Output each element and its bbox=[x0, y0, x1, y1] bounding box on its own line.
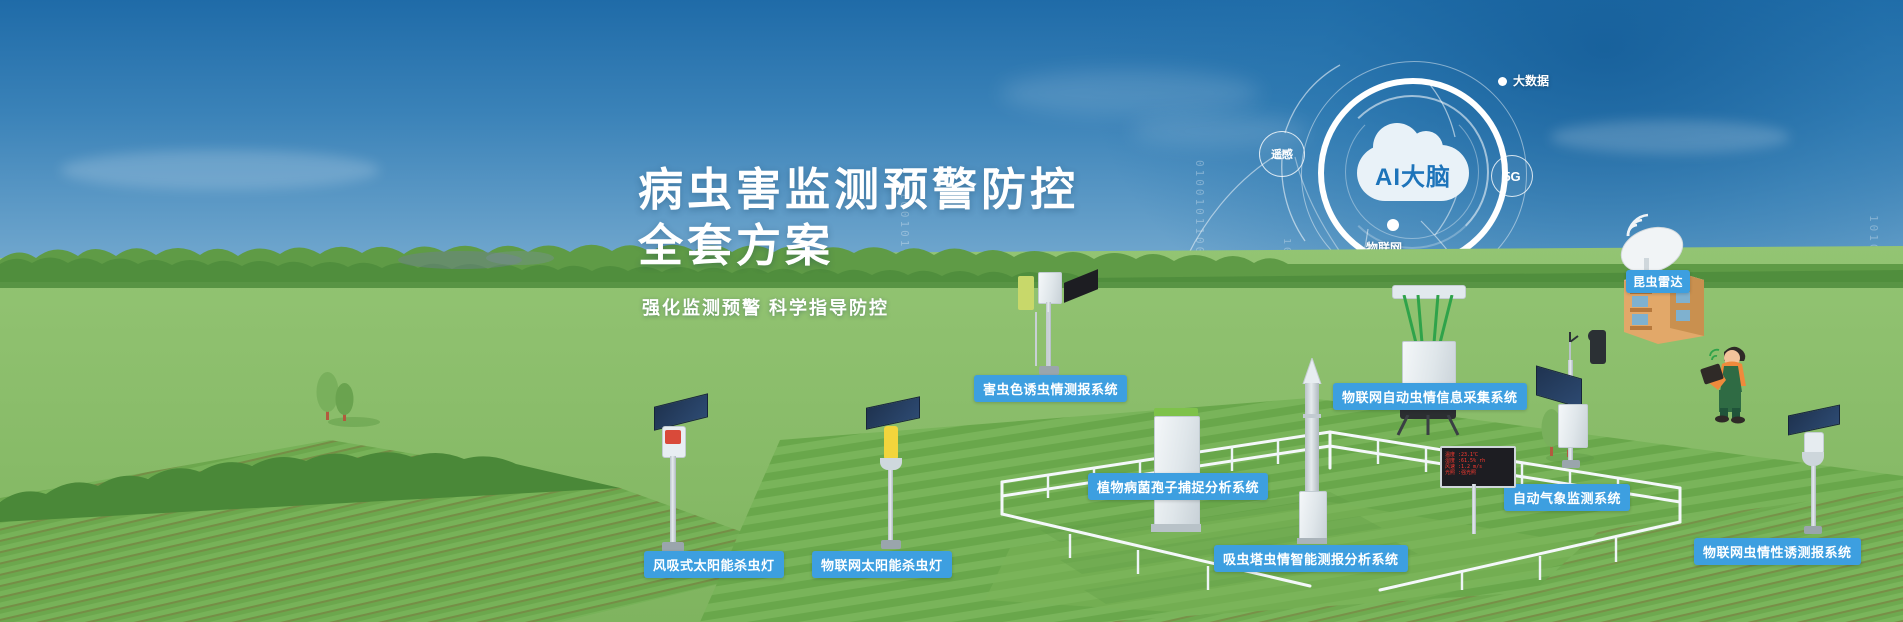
node-5g[interactable]: 5G bbox=[1491, 155, 1533, 197]
pheromone-funnel bbox=[1802, 452, 1824, 466]
node-big-data-label: 大数据 bbox=[1513, 72, 1549, 89]
cloud-shape-left bbox=[60, 150, 380, 190]
label-iot-auto-pest-info-collection[interactable]: 物联网自动虫情信息采集系统 bbox=[1333, 383, 1527, 410]
node-5g-label: 5G bbox=[1503, 169, 1520, 184]
lamp-pole bbox=[670, 456, 676, 544]
device-iot-pheromone-forecast-system[interactable] bbox=[1780, 410, 1846, 540]
led-display-board: 温度 :23.1℃ 湿度 :61.5% rh 风速 :1.2 m/s 光照 :强… bbox=[1440, 446, 1516, 488]
cloud-shape-right bbox=[1550, 120, 1790, 154]
label-suction-tower-forecast-system[interactable]: 吸虫塔虫情智能测报分析系统 bbox=[1214, 545, 1408, 572]
label-iot-pheromone-forecast-system[interactable]: 物联网虫情性诱测报系统 bbox=[1694, 538, 1861, 565]
node-remote-sensing[interactable]: 遥感 bbox=[1259, 131, 1305, 177]
mast-base bbox=[1039, 366, 1059, 375]
ai-brain-label: AI大脑 bbox=[1375, 157, 1451, 192]
worker-with-tablet bbox=[1700, 338, 1760, 424]
tree-cluster-left bbox=[310, 366, 380, 428]
label-spore-capture-analysis-system[interactable]: 植物病菌孢子捕捉分析系统 bbox=[1088, 473, 1268, 500]
tower-ring bbox=[1303, 414, 1321, 418]
cabinet-base bbox=[1151, 524, 1201, 532]
lamp-pole bbox=[888, 470, 893, 542]
page-title-line-1: 病虫害监测预警防控 bbox=[638, 162, 1079, 218]
label-wind-suction-solar-insect-lamp[interactable]: 风吸式太阳能杀虫灯 bbox=[644, 551, 784, 578]
label-iot-solar-insect-lamp[interactable]: 物联网太阳能杀虫灯 bbox=[812, 551, 952, 578]
lamp-cage bbox=[1400, 295, 1456, 343]
ladder bbox=[1035, 312, 1049, 366]
label-insect-radar[interactable]: 昆虫雷达 bbox=[1626, 270, 1690, 293]
pheromone-pole bbox=[1811, 466, 1816, 528]
device-insect-radar[interactable]: 昆虫雷达 bbox=[1604, 222, 1714, 342]
banner-illustration: 010010100101101 01001011001001 101001001… bbox=[0, 0, 1903, 622]
solar-panel-icon bbox=[1788, 404, 1840, 435]
device-suction-tower-forecast-system[interactable] bbox=[1293, 358, 1333, 548]
lamp-base bbox=[881, 540, 901, 549]
led-display-assembly[interactable]: 温度 :23.1℃ 湿度 :61.5% rh 风速 :1.2 m/s 光照 :强… bbox=[1440, 446, 1514, 538]
weather-mast-base bbox=[1562, 460, 1580, 468]
device-wind-suction-solar-insect-lamp[interactable] bbox=[640, 400, 716, 560]
lamp-collector bbox=[880, 458, 902, 470]
pheromone-head bbox=[1804, 432, 1824, 454]
weather-controller-box bbox=[1558, 404, 1588, 448]
tower-base-cabinet bbox=[1299, 491, 1327, 541]
label-color-lure-pest-forecast-system[interactable]: 害虫色诱虫情测报系统 bbox=[974, 375, 1127, 402]
led-board-pole bbox=[1472, 484, 1476, 534]
node-big-data-dot bbox=[1498, 77, 1507, 86]
tower-cone-top bbox=[1301, 358, 1323, 384]
node-remote-sensing-label: 遥感 bbox=[1271, 146, 1293, 162]
tower-shaft bbox=[1305, 383, 1319, 493]
device-auto-weather-monitoring-system[interactable] bbox=[1540, 330, 1626, 480]
title-block: 病虫害监测预警防控 全套方案 强化监测预警 科学指导防控 bbox=[638, 162, 1079, 320]
cabinet-top-strip bbox=[1154, 408, 1198, 416]
page-subtitle: 强化监测预警 科学指导防控 bbox=[642, 294, 1079, 320]
led-line-4: 光照 :强光照 bbox=[1442, 470, 1514, 476]
page-title-line-2: 全套方案 bbox=[638, 218, 1079, 274]
label-auto-weather-monitoring-system[interactable]: 自动气象监测系统 bbox=[1504, 484, 1630, 511]
solar-panel-icon bbox=[1536, 365, 1582, 408]
tower-foot bbox=[1297, 538, 1327, 544]
device-iot-solar-insect-lamp[interactable] bbox=[858, 402, 930, 552]
tripod-stand bbox=[1396, 415, 1460, 437]
solar-panel-icon bbox=[866, 396, 920, 429]
device-iot-auto-pest-info-collection[interactable] bbox=[1390, 285, 1466, 435]
lamp-indicator bbox=[665, 430, 681, 444]
cabinet-body bbox=[1154, 416, 1200, 526]
lamp-lure-cone bbox=[884, 426, 898, 460]
pheromone-base bbox=[1804, 526, 1822, 534]
